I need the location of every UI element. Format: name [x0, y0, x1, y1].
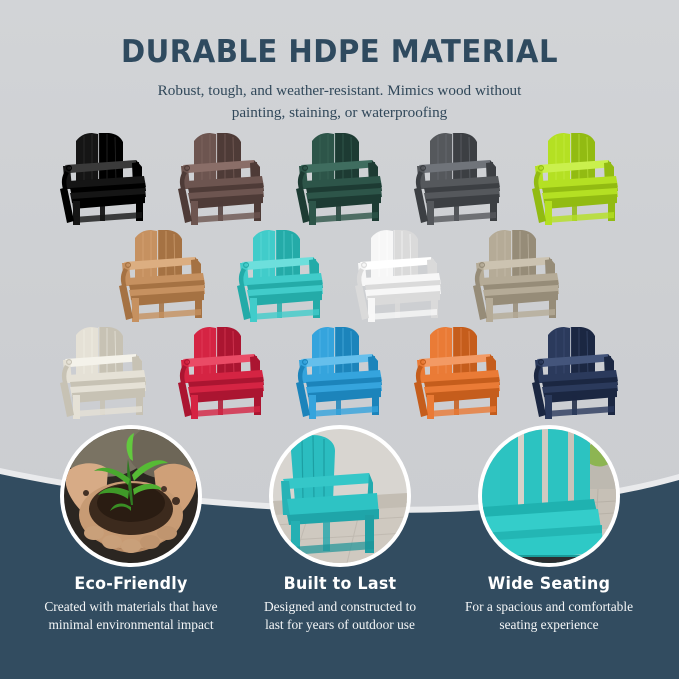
feature-desc-line-2: minimal environmental impact	[48, 617, 213, 632]
subtitle-line-1: Robust, tough, and weather-resistant. Mi…	[158, 82, 522, 99]
chair-row	[0, 325, 679, 422]
feature-desc-line-2: seating experience	[499, 617, 598, 632]
product-infographic: DURABLE HDPE MATERIAL Robust, tough, and…	[0, 0, 679, 679]
feature-title-built-to-last: Built to Last	[234, 574, 445, 593]
feature-image-eco-friendly	[60, 425, 202, 567]
feature-desc-line-2: last for years of outdoor use	[265, 617, 415, 632]
feature-caption-eco-friendly: Eco-Friendly Created with materials that…	[21, 574, 241, 633]
chair-swatch-red[interactable]	[170, 325, 274, 422]
chair-swatch-light-blue[interactable]	[288, 325, 392, 422]
chair-swatch-dark-green[interactable]	[288, 131, 392, 228]
chair-swatch-teak[interactable]	[111, 228, 215, 325]
chair-swatch-white[interactable]	[347, 228, 451, 325]
chair-swatch-lime-green[interactable]	[524, 131, 628, 228]
chair-swatch-ivory[interactable]	[52, 325, 156, 422]
page-title: DURABLE HDPE MATERIAL	[20, 34, 658, 70]
chair-color-grid	[0, 131, 679, 422]
feature-desc-line-1: Created with materials that have	[44, 599, 217, 614]
chair-row	[0, 131, 679, 228]
feature-image-wide-seating	[478, 425, 620, 567]
feature-description-eco-friendly: Created with materials that have minimal…	[21, 598, 241, 633]
chair-swatch-black[interactable]	[52, 131, 156, 228]
page-subtitle: Robust, tough, and weather-resistant. Mi…	[90, 80, 590, 124]
feature-desc-line-1: For a spacious and comfortable	[465, 599, 633, 614]
feature-description-built-to-last: Designed and constructed to last for yea…	[230, 598, 450, 633]
feature-title-wide-seating: Wide Seating	[443, 574, 654, 593]
feature-caption-built-to-last: Built to Last Designed and constructed t…	[230, 574, 450, 633]
hands-holding-soil-icon	[64, 429, 198, 563]
feature-title-eco-friendly: Eco-Friendly	[25, 574, 236, 593]
chair-wide-seat-closeup-icon	[482, 429, 616, 563]
feature-description-wide-seating: For a spacious and comfortable seating e…	[439, 598, 659, 633]
feature-desc-line-1: Designed and constructed to	[264, 599, 416, 614]
subtitle-line-2: painting, staining, or waterproofing	[232, 104, 448, 121]
chair-swatch-gray[interactable]	[406, 131, 510, 228]
turquoise-chair-patio-icon	[273, 429, 407, 563]
feature-image-built-to-last	[269, 425, 411, 567]
chair-swatch-brown[interactable]	[170, 131, 274, 228]
chair-swatch-weathered-wood[interactable]	[465, 228, 569, 325]
chair-swatch-navy[interactable]	[524, 325, 628, 422]
chair-row	[0, 228, 679, 325]
chair-swatch-orange[interactable]	[406, 325, 510, 422]
feature-caption-wide-seating: Wide Seating For a spacious and comforta…	[439, 574, 659, 633]
chair-swatch-turquoise[interactable]	[229, 228, 333, 325]
